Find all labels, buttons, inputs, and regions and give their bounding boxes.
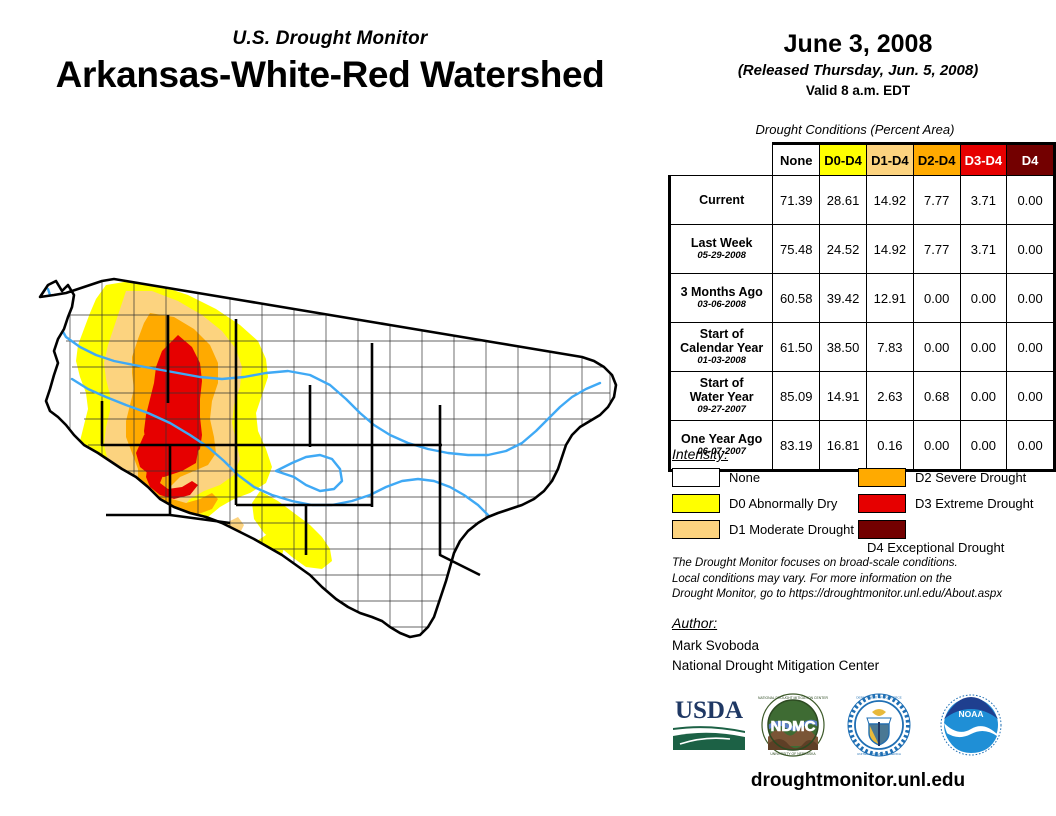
author-name: Mark Svoboda [672, 636, 879, 656]
legend-label: D3 Extreme Drought [915, 496, 1034, 511]
cell-none: 83.19 [773, 421, 820, 471]
row-label-date: 03-06-2008 [674, 300, 769, 311]
logo-row: USDA NDMC NATIONAL DROUGHT MITIGATION CE… [660, 692, 1056, 760]
doc-ring-bottom-text: UNITED STATES OF AMERICA [857, 752, 902, 756]
table-caption: Drought Conditions (Percent Area) [660, 122, 1050, 137]
intensity-legend: NoneD0 Abnormally DryD1 Moderate Drought… [672, 468, 1044, 546]
table-row: 3 Months Ago03-06-200860.5839.4212.910.0… [670, 274, 1055, 323]
cell-d3-d4: 3.71 [960, 225, 1007, 274]
ndmc-logo-text: NDMC [771, 718, 816, 735]
noaa-logo-text: NOAA [958, 709, 983, 719]
cell-d2-d4: 0.00 [913, 274, 960, 323]
legend-item: D1 Moderate Drought [672, 520, 858, 542]
cell-d4: 0.00 [1007, 421, 1055, 471]
row-label: Start ofCalendar Year01-03-2008 [670, 323, 773, 372]
header-corner-blank [670, 144, 773, 176]
cell-d0-d4: 16.81 [820, 421, 867, 471]
row-label: Current [670, 176, 773, 225]
author-block: Mark Svoboda National Drought Mitigation… [672, 636, 879, 677]
legend-item: D4 Exceptional Drought [858, 520, 1044, 542]
row-label-date: 05-29-2008 [674, 251, 769, 262]
cell-d1-d4: 14.92 [866, 176, 913, 225]
column-header-d3-d4: D3-D4 [960, 144, 1007, 176]
cell-none: 71.39 [773, 176, 820, 225]
row-label: Last Week05-29-2008 [670, 225, 773, 274]
author-organization: National Drought Mitigation Center [672, 656, 879, 676]
cell-d4: 0.00 [1007, 274, 1055, 323]
title-block: U.S. Drought Monitor Arkansas-White-Red … [0, 28, 660, 96]
cell-d2-d4: 0.00 [913, 421, 960, 471]
ndmc-ring-bottom-text: UNIVERSITY OF NEBRASKA [770, 752, 816, 756]
cell-d1-d4: 7.83 [866, 323, 913, 372]
legend-column-left: NoneD0 Abnormally DryD1 Moderate Drought [672, 468, 858, 546]
cell-d4: 0.00 [1007, 225, 1055, 274]
cell-d0-d4: 14.91 [820, 372, 867, 421]
disclaimer-text: The Drought Monitor focuses on broad-sca… [672, 556, 1052, 603]
legend-swatch [672, 520, 720, 539]
noaa-logo: NOAA [937, 692, 1005, 763]
legend-swatch [672, 494, 720, 513]
cell-d1-d4: 14.92 [866, 225, 913, 274]
legend-item: None [672, 468, 858, 490]
usda-logo: USDA [670, 692, 748, 759]
cell-d0-d4: 38.50 [820, 323, 867, 372]
legend-item: D3 Extreme Drought [858, 494, 1044, 516]
disclaimer-line-3: Drought Monitor, go to https://droughtmo… [672, 587, 1052, 603]
column-header-none: None [773, 144, 820, 176]
table-header-row: NoneD0-D4D1-D4D2-D4D3-D4D4 [670, 144, 1055, 176]
drought-map [10, 255, 660, 665]
cell-d2-d4: 0.68 [913, 372, 960, 421]
cell-none: 85.09 [773, 372, 820, 421]
cell-d2-d4: 7.77 [913, 176, 960, 225]
ndmc-logo: NDMC NATIONAL DROUGHT MITIGATION CENTER … [757, 692, 829, 763]
site-url: droughtmonitor.unl.edu [660, 770, 1056, 792]
table-body: Current71.3928.6114.927.773.710.00Last W… [670, 176, 1055, 471]
legend-label: D1 Moderate Drought [729, 522, 854, 537]
legend-label: D2 Severe Drought [915, 470, 1026, 485]
cell-d0-d4: 39.42 [820, 274, 867, 323]
legend-swatch [858, 494, 906, 513]
cell-d3-d4: 0.00 [960, 372, 1007, 421]
legend-column-right: D2 Severe DroughtD3 Extreme DroughtD4 Ex… [858, 468, 1044, 546]
legend-item: D0 Abnormally Dry [672, 494, 858, 516]
drought-map-svg [10, 255, 660, 665]
cell-d1-d4: 0.16 [866, 421, 913, 471]
cell-none: 60.58 [773, 274, 820, 323]
ndmc-ring-top-text: NATIONAL DROUGHT MITIGATION CENTER [758, 696, 828, 700]
cell-d2-d4: 0.00 [913, 323, 960, 372]
table-row: Last Week05-29-200875.4824.5214.927.773.… [670, 225, 1055, 274]
row-label-date: 09-27-2007 [674, 405, 769, 416]
legend-swatch [858, 468, 906, 487]
row-label: 3 Months Ago03-06-2008 [670, 274, 773, 323]
cell-d1-d4: 2.63 [866, 372, 913, 421]
cell-d3-d4: 0.00 [960, 274, 1007, 323]
department-of-commerce-logo: DEPARTMENT OF COMMERCE UNITED STATES OF … [845, 692, 913, 763]
table-row: Start ofCalendar Year01-03-200861.5038.5… [670, 323, 1055, 372]
legend-label: D4 Exceptional Drought [867, 540, 1004, 555]
page-title: Arkansas-White-Red Watershed [0, 54, 660, 96]
table-row: Current71.3928.6114.927.773.710.00 [670, 176, 1055, 225]
valid-time: Valid 8 a.m. EDT [660, 83, 1056, 98]
legend-label: None [729, 470, 760, 485]
cell-none: 61.50 [773, 323, 820, 372]
legend-swatch [672, 468, 720, 487]
cell-d2-d4: 7.77 [913, 225, 960, 274]
column-header-d4: D4 [1007, 144, 1055, 176]
doc-ring-top-text: DEPARTMENT OF COMMERCE [856, 696, 901, 700]
release-date: June 3, 2008 [660, 30, 1056, 59]
intensity-heading: Intensity: [672, 446, 728, 462]
cell-d4: 0.00 [1007, 372, 1055, 421]
cell-d3-d4: 0.00 [960, 421, 1007, 471]
column-header-d1-d4: D1-D4 [866, 144, 913, 176]
row-label-date: 01-03-2008 [674, 356, 769, 367]
legend-label: D0 Abnormally Dry [729, 496, 837, 511]
cell-d0-d4: 28.61 [820, 176, 867, 225]
date-block: June 3, 2008 (Released Thursday, Jun. 5,… [660, 30, 1056, 98]
cell-d0-d4: 24.52 [820, 225, 867, 274]
program-subtitle: U.S. Drought Monitor [0, 28, 660, 50]
column-header-d2-d4: D2-D4 [913, 144, 960, 176]
table-row: Start ofWater Year09-27-200785.0914.912.… [670, 372, 1055, 421]
legend-item: D2 Severe Drought [858, 468, 1044, 490]
released-note: (Released Thursday, Jun. 5, 2008) [660, 62, 1056, 79]
cell-d3-d4: 0.00 [960, 323, 1007, 372]
cell-none: 75.48 [773, 225, 820, 274]
row-label: Start ofWater Year09-27-2007 [670, 372, 773, 421]
legend-swatch [858, 520, 906, 539]
cell-d4: 0.00 [1007, 323, 1055, 372]
drought-conditions-table: NoneD0-D4D1-D4D2-D4D3-D4D4 Current71.392… [668, 142, 1056, 472]
cell-d3-d4: 3.71 [960, 176, 1007, 225]
author-heading: Author: [672, 615, 717, 631]
column-header-d0-d4: D0-D4 [820, 144, 867, 176]
disclaimer-line-2: Local conditions may vary. For more info… [672, 572, 1052, 588]
disclaimer-line-1: The Drought Monitor focuses on broad-sca… [672, 556, 1052, 572]
cell-d1-d4: 12.91 [866, 274, 913, 323]
cell-d4: 0.00 [1007, 176, 1055, 225]
usda-logo-text: USDA [675, 697, 743, 724]
